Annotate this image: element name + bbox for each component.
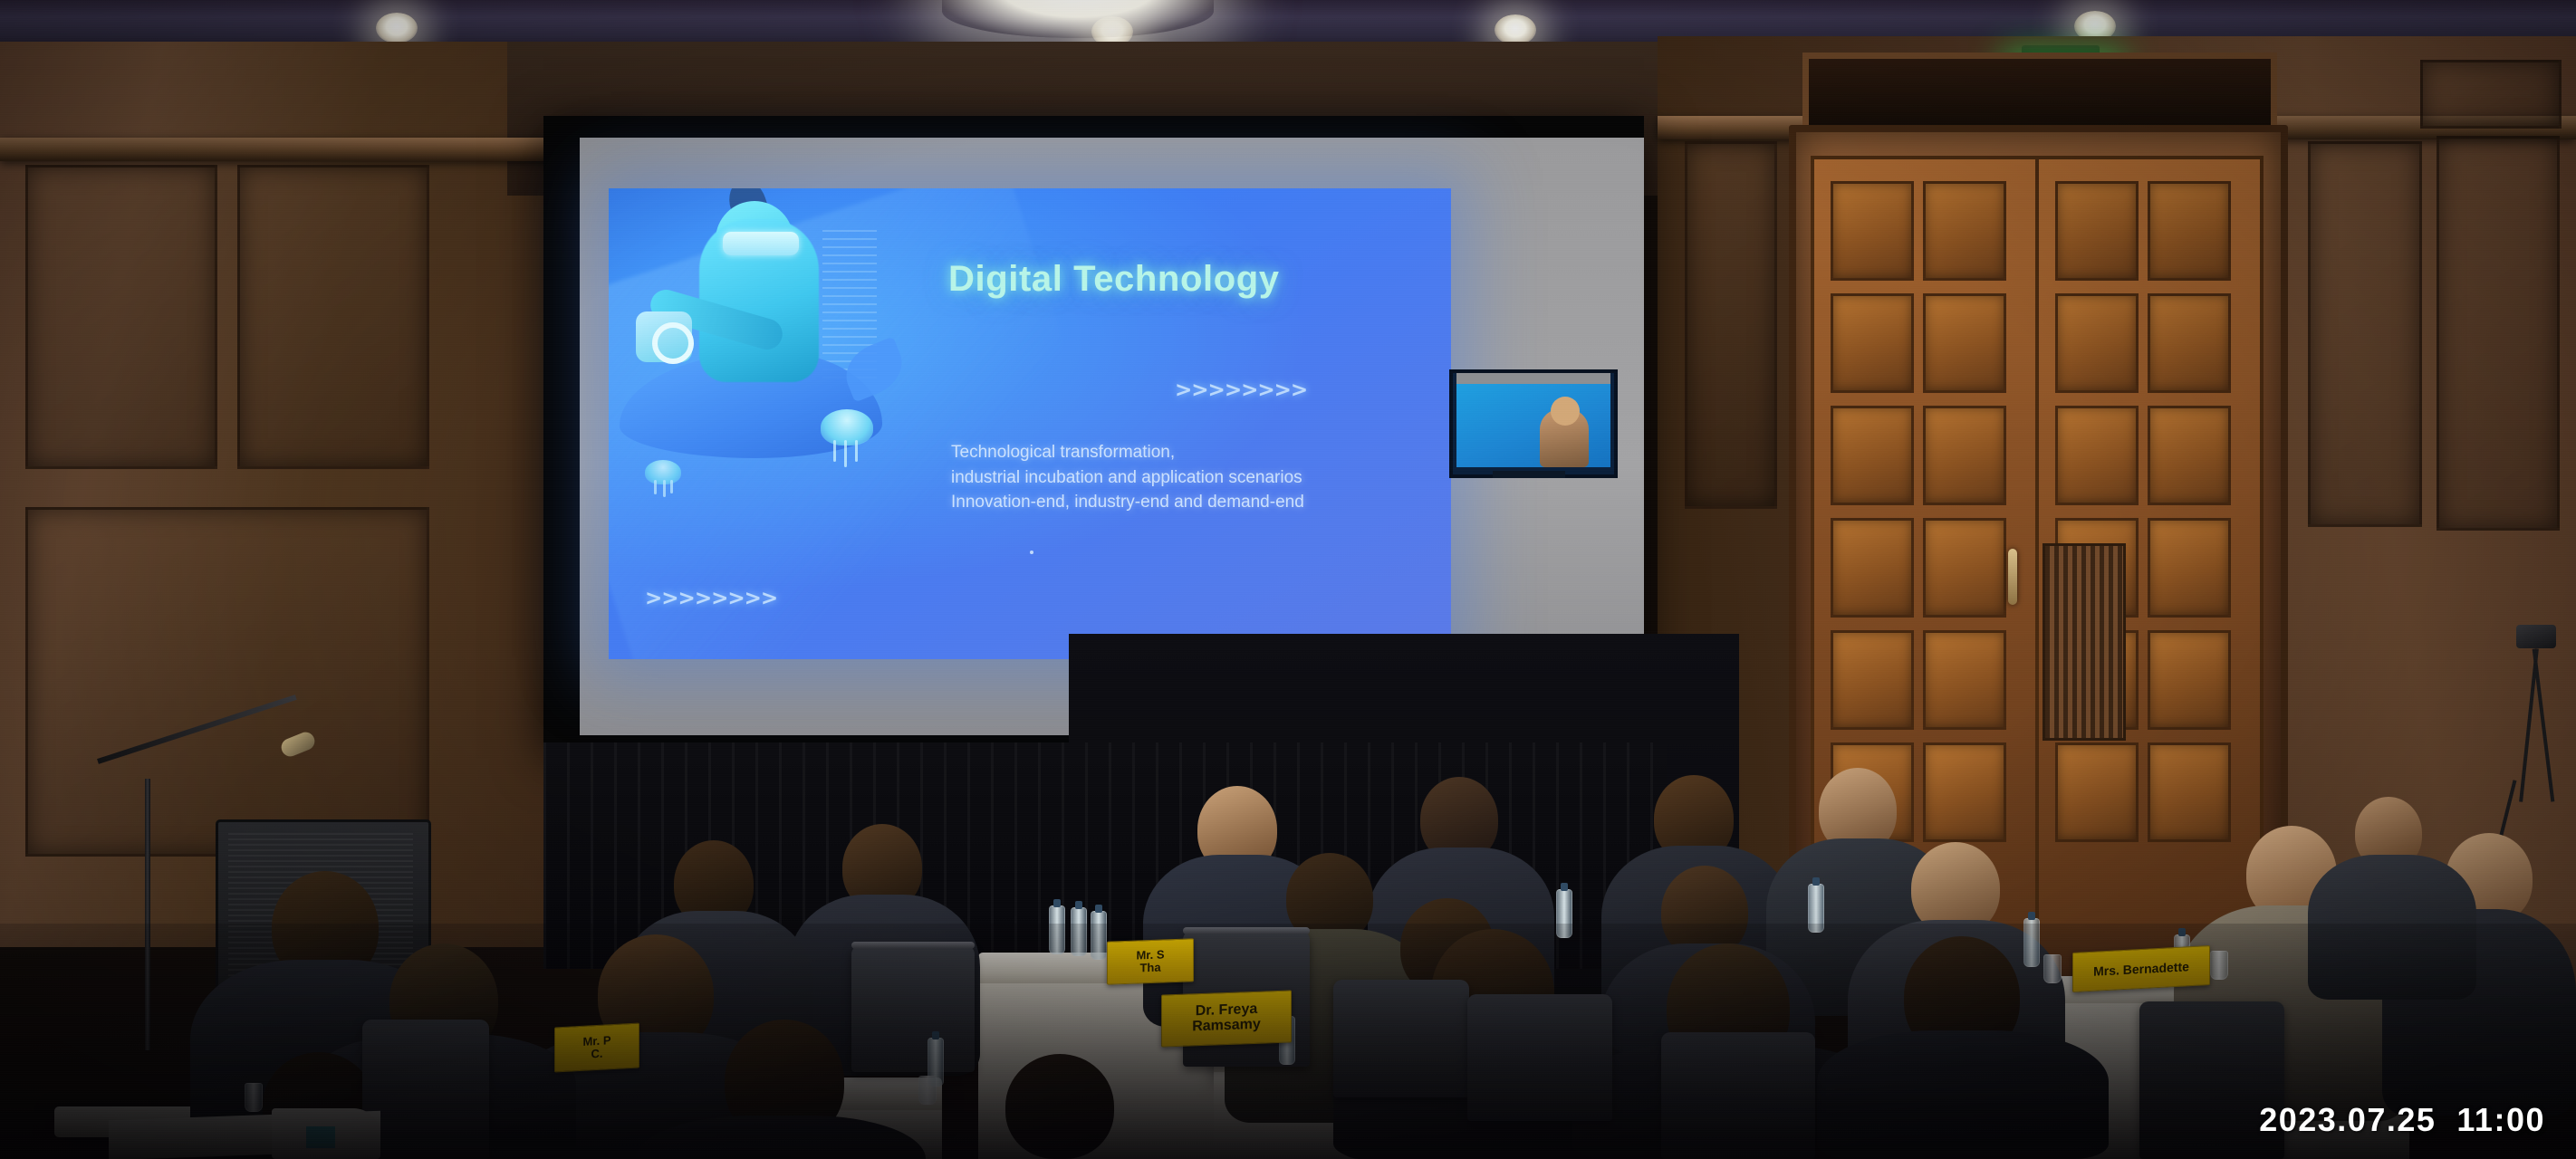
- water-bottle: [1071, 907, 1087, 956]
- slide-body-line-2: industrial incubation and application sc…: [951, 465, 1422, 491]
- chair[interactable]: [851, 945, 975, 1072]
- jellyfish-illustration: [821, 409, 873, 445]
- placard-line-1: Mrs. Bernadette: [2093, 960, 2189, 978]
- ceiling-downlight: [376, 13, 418, 43]
- jellyfish-illustration: [645, 460, 681, 484]
- slide-bullet-dot: [1030, 551, 1033, 554]
- slide-title: Digital Technology: [948, 259, 1374, 300]
- drinking-glass: [918, 1076, 937, 1105]
- projected-slide: Digital Technology >>>>>>>> >>>>>>>> Tec…: [609, 188, 1451, 659]
- slide-body-line-1: Technological transformation,: [951, 440, 1422, 465]
- wall-crown-moulding: [0, 138, 562, 161]
- monitor-top-band: [1456, 373, 1610, 384]
- chair[interactable]: [362, 1020, 489, 1159]
- name-placard: Mrs. Bernadette: [2072, 945, 2210, 992]
- name-placard: Mr. S Tha: [1107, 938, 1194, 984]
- wall-panel: [2308, 141, 2422, 527]
- name-placard: Dr. Freya Ramsamy: [1161, 990, 1292, 1047]
- speaker-head: [1551, 397, 1580, 426]
- placard-line-2: C.: [591, 1048, 603, 1060]
- wall-panel: [2437, 136, 2560, 531]
- speaker-video-monitor: [1449, 369, 1618, 478]
- slide-body-text: Technological transformation, industrial…: [951, 440, 1422, 515]
- vr-headset-icon: [723, 232, 799, 255]
- water-bottle: [1091, 911, 1107, 960]
- ceiling-downlight: [1495, 14, 1536, 45]
- wall-panel: [237, 165, 429, 469]
- wall-panel: [25, 507, 429, 857]
- drinking-glass: [2210, 951, 2228, 980]
- chair[interactable]: [1333, 980, 1469, 1097]
- sticky-note: [306, 1126, 335, 1148]
- chair[interactable]: [1467, 994, 1612, 1121]
- monitor-screen: [1456, 384, 1610, 467]
- monitor-stand: [1493, 471, 1565, 478]
- chair-backrest: [1183, 927, 1310, 934]
- chair[interactable]: [1661, 1032, 1815, 1159]
- photo-timestamp: 2023.07.25 11:00: [2259, 1101, 2545, 1139]
- device-lens-ring: [652, 322, 694, 364]
- microphone-stand-pole: [145, 779, 150, 1050]
- door-transom-window: [1802, 53, 2277, 136]
- water-bottle: [2023, 918, 2040, 967]
- door-handle[interactable]: [2008, 549, 2017, 605]
- slide-body-line-3: Innovation-end, industry-end and demand-…: [951, 490, 1422, 515]
- water-bottle: [1049, 905, 1065, 954]
- chevron-decoration-icon: >>>>>>>>: [645, 587, 777, 610]
- conference-photo: ↓ ↱: [0, 0, 2576, 1159]
- wall-panel: [1685, 141, 1777, 509]
- water-bottle: [1808, 884, 1824, 933]
- camera-head: [2516, 625, 2556, 648]
- wall-panel: [2420, 60, 2562, 129]
- wall-grille: [2043, 543, 2126, 741]
- drinking-glass: [2043, 954, 2062, 983]
- slide-illustration-vr-ocean: [629, 196, 900, 467]
- wall-panel: [25, 165, 217, 469]
- placard-line-2: Ramsamy: [1192, 1018, 1261, 1035]
- placard-line-2: Tha: [1139, 962, 1160, 974]
- drinking-glass: [245, 1083, 263, 1112]
- chevron-decoration-icon: >>>>>>>>: [1175, 378, 1307, 402]
- water-bottle: [1556, 889, 1572, 938]
- name-placard: Mr. P C.: [554, 1023, 639, 1073]
- chair-backrest: [851, 942, 975, 949]
